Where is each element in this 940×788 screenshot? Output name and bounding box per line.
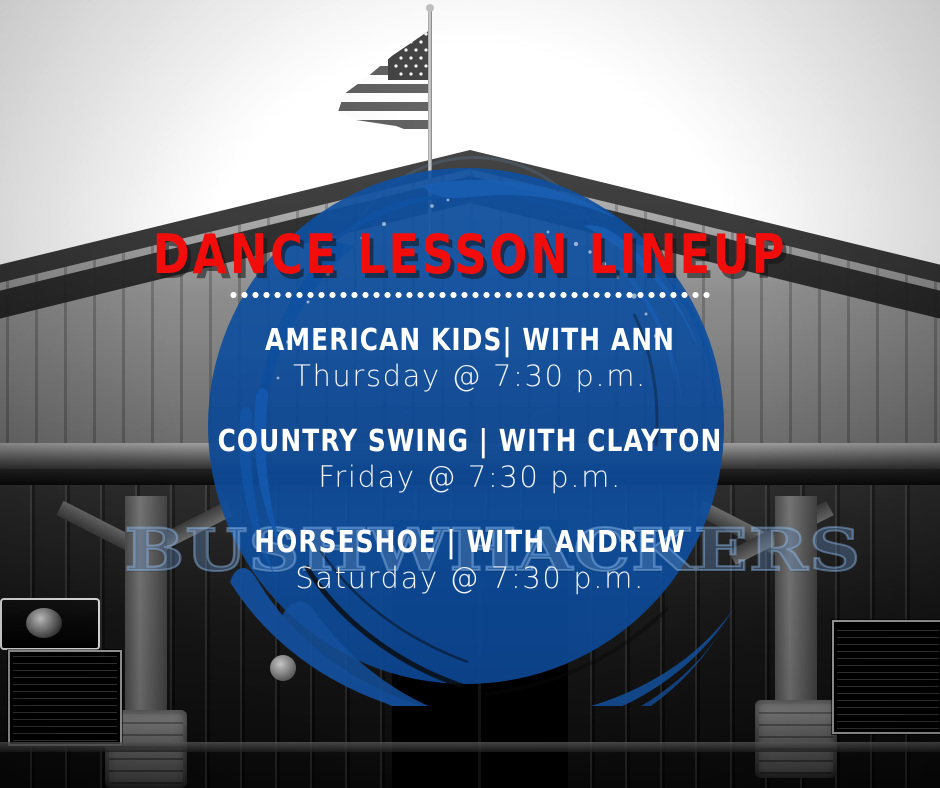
lesson-heading: COUNTRY SWING | WITH CLAYTON — [38, 426, 903, 458]
lesson-item-country-swing: COUNTRY SWING | WITH CLAYTON Friday @ 7:… — [0, 426, 940, 493]
lesson-item-american-kids: AMERICAN KIDS| WITH ANN Thursday @ 7:30 … — [0, 325, 940, 392]
lesson-heading: AMERICAN KIDS| WITH ANN — [38, 325, 903, 357]
dance-lesson-lineup-poster: BUSHWHACKERS — [0, 0, 940, 788]
lesson-schedule: Saturday @ 7:30 p.m. — [0, 563, 940, 595]
lesson-schedule: Thursday @ 7:30 p.m. — [0, 361, 940, 393]
lesson-item-horseshoe: HORSESHOE | WITH ANDREW Saturday @ 7:30 … — [0, 527, 940, 594]
lesson-heading: HORSESHOE | WITH ANDREW — [38, 527, 903, 559]
dotted-divider — [228, 292, 712, 298]
page-title: DANCE LESSON LINEUP — [38, 228, 903, 282]
lesson-schedule: Friday @ 7:30 p.m. — [0, 462, 940, 494]
poster-content: DANCE LESSON LINEUP AMERICAN KIDS| WITH … — [0, 0, 940, 788]
